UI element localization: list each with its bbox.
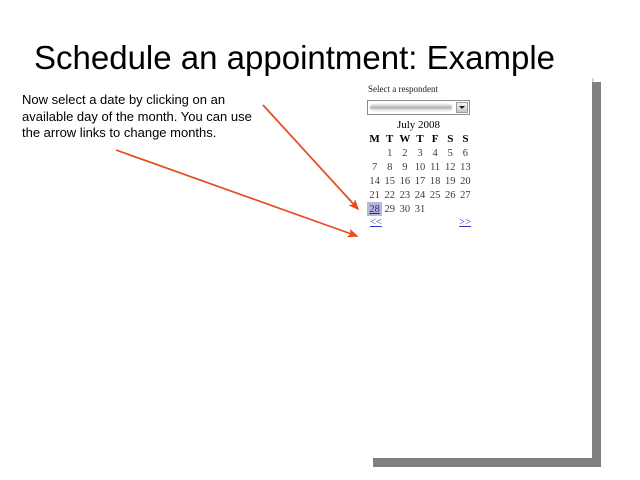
calendar-day[interactable]: 9 xyxy=(397,160,412,174)
respondent-label: Select a respondent xyxy=(368,84,479,95)
prev-month-link[interactable]: << xyxy=(370,217,382,228)
arrow-to-month-links xyxy=(116,150,357,236)
calendar-day[interactable]: 5 xyxy=(443,146,458,160)
weekday-header: M xyxy=(367,132,382,146)
calendar-day[interactable]: 20 xyxy=(458,174,473,188)
weekday-header: F xyxy=(428,132,443,146)
calendar-grid: M T W T F S S 1 2 3 4 5 6 xyxy=(367,132,473,216)
calendar-day[interactable]: 18 xyxy=(428,174,443,188)
calendar-day[interactable]: 2 xyxy=(397,146,412,160)
calendar-day[interactable]: 21 xyxy=(367,188,382,202)
calendar-day[interactable]: 26 xyxy=(443,188,458,202)
calendar-day[interactable]: 10 xyxy=(412,160,427,174)
respondent-select-value xyxy=(370,103,452,112)
content-shadow-bottom xyxy=(373,458,601,467)
instruction-text: Now select a date by clicking on an avai… xyxy=(22,92,270,142)
calendar-day[interactable]: 24 xyxy=(412,188,427,202)
next-month-link[interactable]: >> xyxy=(459,217,471,228)
calendar-day[interactable]: 3 xyxy=(412,146,427,160)
calendar-day[interactable]: 11 xyxy=(428,160,443,174)
calendar-day[interactable]: 31 xyxy=(412,202,427,216)
weekday-header: T xyxy=(412,132,427,146)
calendar-day-empty xyxy=(367,146,382,160)
calendar-day[interactable]: 23 xyxy=(397,188,412,202)
content-shadow-right xyxy=(592,82,601,467)
calendar-week-row: 1 2 3 4 5 6 xyxy=(367,146,473,160)
calendar-day[interactable]: 29 xyxy=(382,202,397,216)
calendar-day[interactable]: 6 xyxy=(458,146,473,160)
page-title: Schedule an appointment: Example xyxy=(34,38,614,78)
calendar-day-empty xyxy=(458,202,473,216)
calendar-day[interactable]: 12 xyxy=(443,160,458,174)
calendar-week-row: 7 8 9 10 11 12 13 xyxy=(367,160,473,174)
calendar-week-row: 28 29 30 31 xyxy=(367,202,473,216)
calendar-day[interactable]: 8 xyxy=(382,160,397,174)
calendar-day-empty xyxy=(443,202,458,216)
calendar-day[interactable]: 17 xyxy=(412,174,427,188)
weekday-header: T xyxy=(382,132,397,146)
weekday-header: S xyxy=(443,132,458,146)
calendar-day[interactable]: 19 xyxy=(443,174,458,188)
calendar-day[interactable]: 22 xyxy=(382,188,397,202)
slide-canvas: Schedule an appointment: Example Now sel… xyxy=(0,0,640,480)
calendar-day[interactable]: 7 xyxy=(367,160,382,174)
calendar-day[interactable]: 25 xyxy=(428,188,443,202)
calendar-day[interactable]: 27 xyxy=(458,188,473,202)
calendar-day[interactable]: 15 xyxy=(382,174,397,188)
caret-glyph xyxy=(459,106,465,109)
weekday-header: S xyxy=(458,132,473,146)
calendar-day[interactable]: 13 xyxy=(458,160,473,174)
calendar-day[interactable]: 1 xyxy=(382,146,397,160)
respondent-select[interactable] xyxy=(367,100,470,115)
calendar-day-empty xyxy=(428,202,443,216)
calendar-day[interactable]: 14 xyxy=(367,174,382,188)
calendar-weekday-row: M T W T F S S xyxy=(367,132,473,146)
calendar-widget: Select a respondent July 2008 M T W T F … xyxy=(367,84,479,231)
calendar-month-title: July 2008 xyxy=(367,119,470,131)
chevron-down-icon[interactable] xyxy=(456,102,468,113)
calendar-nav: << >> xyxy=(367,217,473,231)
calendar-day[interactable]: 4 xyxy=(428,146,443,160)
weekday-header: W xyxy=(397,132,412,146)
arrow-to-selected-day xyxy=(263,105,358,209)
calendar-day-selected[interactable]: 28 xyxy=(367,202,382,216)
calendar-day[interactable]: 16 xyxy=(397,174,412,188)
calendar-week-row: 21 22 23 24 25 26 27 xyxy=(367,188,473,202)
calendar-day[interactable]: 30 xyxy=(397,202,412,216)
calendar-week-row: 14 15 16 17 18 19 20 xyxy=(367,174,473,188)
